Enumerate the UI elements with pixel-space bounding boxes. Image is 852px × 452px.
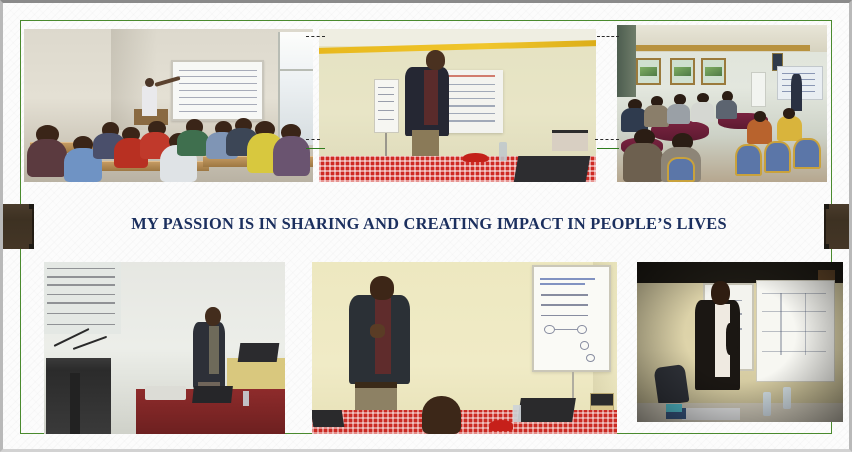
- attendee-body: [777, 116, 802, 141]
- photo-classroom-training-session[interactable]: [24, 29, 313, 182]
- side-table: [227, 358, 285, 392]
- red-cap: [489, 420, 513, 430]
- attendee-body: [716, 100, 737, 119]
- banquet-chair: [735, 144, 762, 175]
- speaker-head: [370, 276, 394, 300]
- attendee-body: [644, 105, 669, 127]
- speaker-head: [205, 307, 221, 326]
- attendee-body: [27, 139, 67, 177]
- red-cap: [463, 153, 488, 162]
- banquet-chair: [667, 157, 694, 182]
- whiteboard: [171, 60, 263, 121]
- speaker-shirt: [209, 326, 219, 374]
- laptop: [312, 410, 344, 427]
- photo-conference-hall-audience[interactable]: [617, 25, 827, 182]
- slide-shell: MY PASSION IS IN SHARING AND CREATING IM…: [0, 0, 852, 452]
- decorative-bracket-left: [3, 204, 34, 249]
- flipchart: [751, 72, 766, 107]
- projector: [145, 386, 186, 400]
- attendee-body: [667, 104, 690, 124]
- water-bottle: [513, 405, 521, 422]
- wall-picture: [670, 58, 695, 85]
- speaker-figure: [791, 74, 802, 112]
- photo-speaker-with-flipchart[interactable]: [312, 262, 617, 434]
- photo-speaker-with-projected-slide[interactable]: [319, 29, 596, 182]
- decorative-bracket-right: [824, 204, 852, 249]
- speaker-head: [426, 50, 445, 70]
- page-title: MY PASSION IS IN SHARING AND CREATING IM…: [131, 214, 727, 234]
- speaker-shirt: [424, 70, 438, 125]
- attendee-body: [623, 143, 663, 182]
- curtain: [617, 25, 636, 97]
- presenter-torso: [142, 86, 156, 117]
- water-bottle: [243, 391, 249, 406]
- photo-vignette: [637, 262, 843, 422]
- attendee-body: [747, 119, 772, 144]
- attendee-body: [177, 130, 209, 156]
- projected-slide: [44, 262, 121, 334]
- wall-picture: [701, 58, 726, 85]
- ceiling-beam: [634, 45, 810, 50]
- banquet-chair: [793, 138, 820, 169]
- banquet-chair: [764, 141, 791, 172]
- attendee-head: [422, 396, 462, 434]
- projection-screen: [441, 70, 503, 133]
- photo-speaker-with-whiteboards[interactable]: [637, 262, 843, 422]
- laptop: [193, 386, 233, 403]
- laptop: [238, 343, 279, 362]
- equipment-box: [552, 130, 588, 151]
- flipchart: [532, 265, 611, 372]
- wall-picture: [636, 58, 661, 85]
- laptop: [513, 156, 590, 182]
- speaker-belt: [355, 382, 398, 387]
- headline-band: MY PASSION IS IN SHARING AND CREATING IM…: [37, 199, 821, 249]
- lectern: [46, 358, 111, 434]
- speaker-hand: [370, 324, 385, 338]
- attendee-body: [273, 136, 311, 176]
- attendee-body: [691, 102, 714, 122]
- laptop: [517, 398, 576, 422]
- water-bottle: [499, 142, 507, 160]
- flipchart: [374, 79, 399, 133]
- photo-podium-presentation[interactable]: [44, 262, 285, 434]
